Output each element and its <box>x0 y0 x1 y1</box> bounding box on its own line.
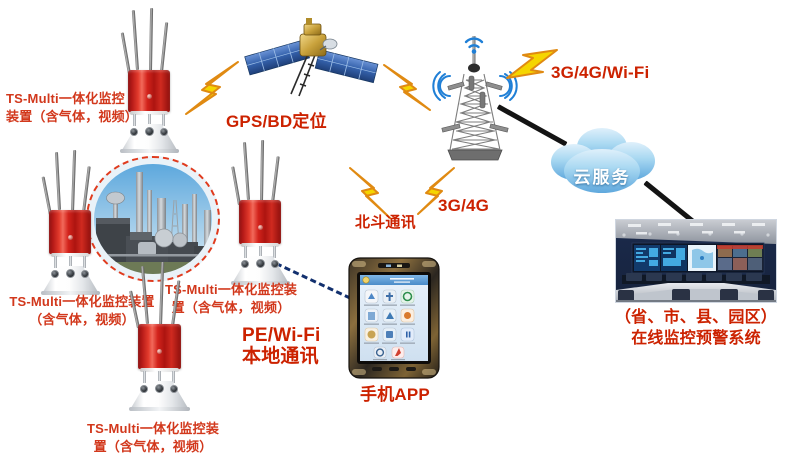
rugged-tablet-icon[interactable] <box>348 257 440 379</box>
link-3g4gwifi-label: 3G/4G/Wi-Fi <box>551 63 649 83</box>
cell-tower-icon <box>420 18 530 168</box>
lightning-bolt-icon <box>176 58 246 120</box>
monitoring-device-icon <box>218 140 304 286</box>
monitoring-device-icon <box>118 262 204 414</box>
lightning-bolt-icon <box>378 62 436 114</box>
link-3g4g-label: 3G/4G <box>438 196 489 216</box>
link-beidou-label: 北斗通讯 <box>355 214 416 232</box>
link-gps-label: GPS/BD定位 <box>226 112 327 132</box>
device-top-left-label: TS-Multi一体化监控 装置（含气体，视频） <box>6 90 132 125</box>
diagram-canvas: 云服务 <box>0 0 797 464</box>
device-bottom-label: TS-Multi一体化监控装 置（含气体，视频） <box>78 420 228 455</box>
control-room-photo <box>615 219 777 303</box>
tablet-label: 手机APP <box>360 385 430 405</box>
cloud-icon: 云服务 <box>541 121 663 199</box>
cloud-label: 云服务 <box>541 163 663 188</box>
monitoring-device-icon <box>28 150 114 296</box>
satellite-icon <box>242 8 382 108</box>
control-room-label: （省、市、县、园区） 在线监控预警系统 <box>600 308 792 350</box>
link-local-label: PE/Wi-Fi 本地通讯 <box>242 325 352 368</box>
